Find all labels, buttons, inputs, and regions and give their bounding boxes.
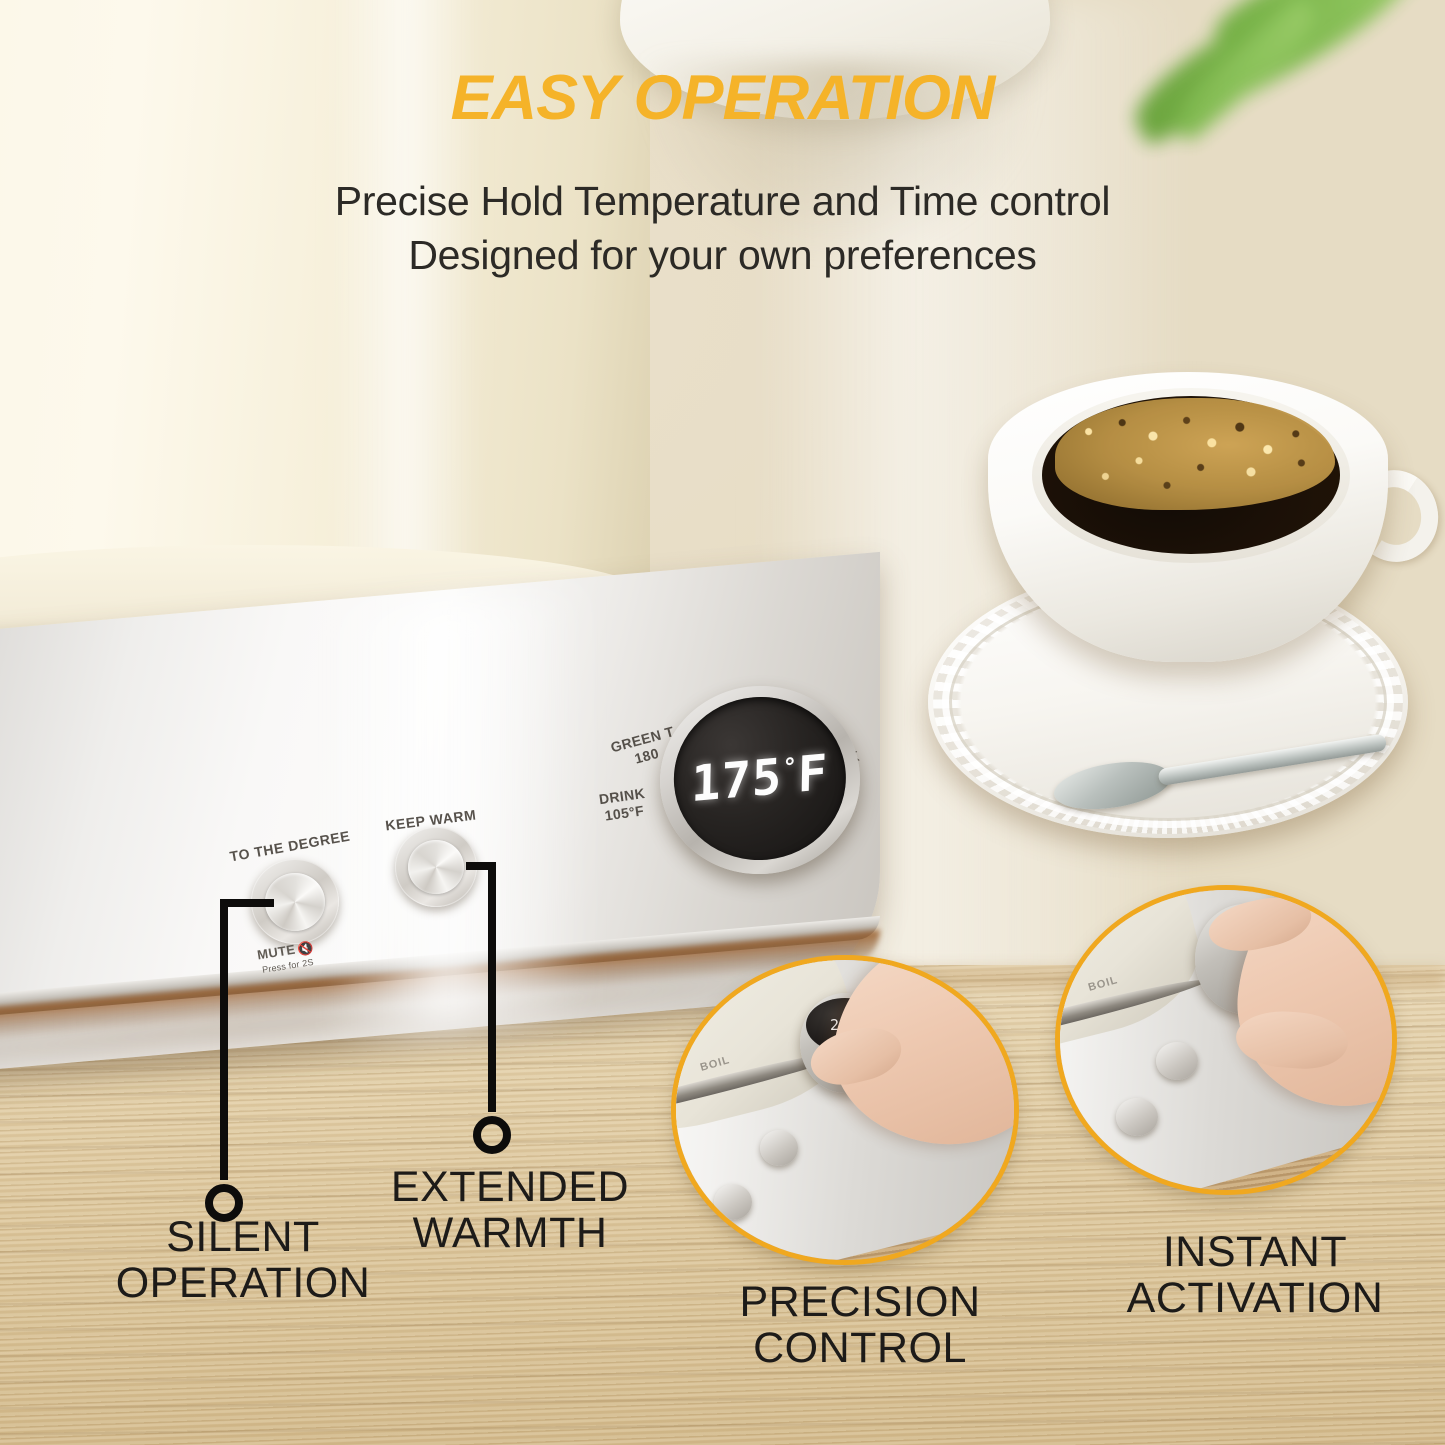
subheadline-line-1: Precise Hold Temperature and Time contro… [0, 178, 1445, 225]
callout-label-instant-activation: INSTANT ACTIVATION [1085, 1230, 1425, 1321]
product-marketing-image: GREEN T 180 DRINK 105°F FE OIL ACK 2°F 1… [0, 0, 1445, 1445]
led-degree-icon: ° [782, 752, 798, 781]
callout-extended-line2: WARMTH [345, 1211, 675, 1257]
speaker-mute-icon: 🔇 [296, 940, 315, 958]
callout-instant-line2: ACTIVATION [1085, 1276, 1425, 1322]
keep-warm-button[interactable] [395, 827, 477, 907]
inset-button-keep-warm [760, 1130, 798, 1166]
instant-activation-inset-photo: BOIL [1060, 890, 1392, 1190]
callout-label-precision-control: PRECISION CONTROL [690, 1280, 1030, 1371]
led-display: 175°F [667, 690, 853, 867]
preset-drink: DRINK 105°F [598, 785, 648, 824]
callout-precision-line1: PRECISION [690, 1280, 1030, 1326]
callout-precision-line2: CONTROL [690, 1326, 1030, 1372]
to-the-degree-button[interactable] [251, 859, 339, 944]
inset-button-to-the-degree [1116, 1098, 1158, 1136]
callout-silent-line2: OPERATION [28, 1261, 458, 1307]
crema-bubbles [1055, 398, 1335, 510]
precision-control-inset-photo: BOIL 205 [676, 960, 1014, 1260]
subheadline-line-2: Designed for your own preferences [0, 232, 1445, 279]
inset-button-to-the-degree [714, 1184, 752, 1220]
button-cap [265, 873, 325, 931]
callout-instant-line1: INSTANT [1085, 1230, 1425, 1276]
button-cap [408, 840, 464, 894]
page-headline: EASY OPERATION [0, 62, 1445, 134]
led-temperature-readout: 175°F [691, 744, 829, 813]
led-unit: F [797, 744, 828, 804]
inset-button-keep-warm [1156, 1042, 1198, 1080]
callout-label-extended-warmth: EXTENDED WARMTH [345, 1165, 675, 1256]
led-value: 175 [691, 748, 783, 813]
callout-extended-line1: EXTENDED [345, 1165, 675, 1211]
